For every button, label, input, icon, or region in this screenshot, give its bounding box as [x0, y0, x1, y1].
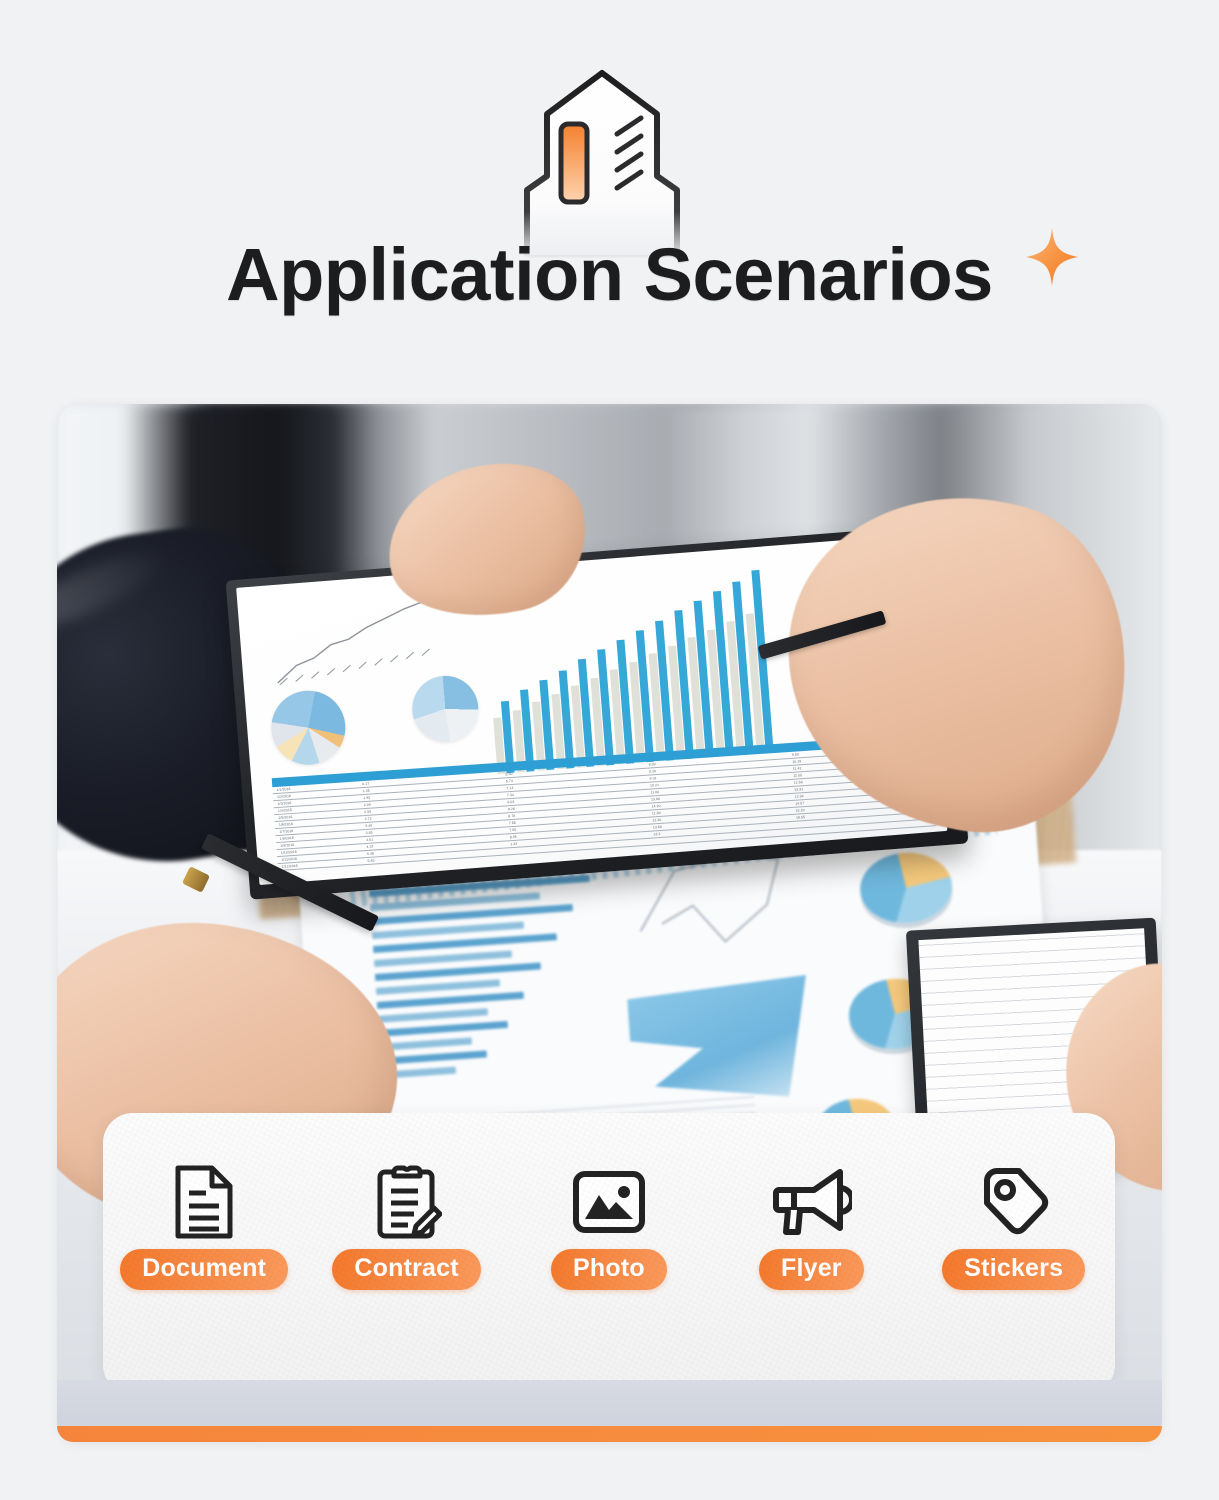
price-tag-stickers-icon: [977, 1161, 1051, 1243]
contract-clipboard-icon: [372, 1161, 442, 1243]
scenario-label-photo[interactable]: Photo: [551, 1249, 667, 1290]
scenario-label-contract[interactable]: Contract: [332, 1249, 480, 1290]
megaphone-flyer-icon: [770, 1161, 852, 1243]
card-bottom-accent: [57, 1426, 1162, 1442]
scenario-item-photo[interactable]: Photo: [517, 1161, 701, 1290]
lower-horizontal-bar-chart: [369, 874, 612, 1086]
scenario-item-document[interactable]: Document: [112, 1161, 296, 1290]
scenario-label-stickers[interactable]: Stickers: [942, 1249, 1085, 1290]
sleeve-highlight: [57, 539, 172, 645]
scenario-label-panel: Document Con: [103, 1113, 1115, 1395]
photo-image-icon: [571, 1161, 647, 1243]
scenario-item-stickers[interactable]: Stickers: [922, 1161, 1106, 1290]
scenario-items: Document Con: [103, 1161, 1115, 1290]
scenario-item-contract[interactable]: Contract: [315, 1161, 499, 1290]
report-pie-chart-1: [269, 688, 349, 768]
lower-area-chart: [626, 975, 814, 1107]
report-pie-chart-2: [410, 673, 481, 744]
application-scenarios-page: Application Scenarios: [0, 0, 1219, 1500]
lower-pie-chart-1: [858, 850, 955, 926]
scenario-item-flyer[interactable]: Flyer: [719, 1161, 903, 1290]
page-title: Application Scenarios: [226, 238, 993, 312]
building-icon: [497, 68, 707, 258]
document-icon: [172, 1161, 236, 1243]
scenario-label-flyer[interactable]: Flyer: [759, 1249, 864, 1290]
sparkle-icon: [1024, 226, 1080, 288]
scenario-label-document[interactable]: Document: [120, 1249, 288, 1290]
header: Application Scenarios: [0, 0, 1219, 392]
